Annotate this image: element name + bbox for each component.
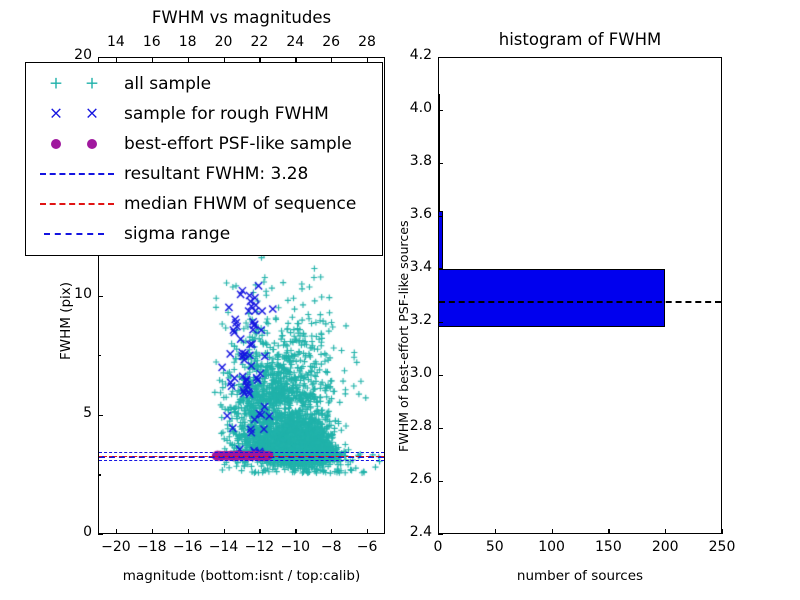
right-plot-xlabel: number of sources: [438, 568, 722, 584]
legend-item: median FHWM of sequence: [34, 189, 374, 219]
line-style-swatch-icon: [44, 233, 104, 235]
legend: ++all sample××sample for rough FWHMbest-…: [25, 62, 383, 256]
circle-marker-icon: [51, 139, 61, 149]
hist-x-tick-mark: [552, 529, 553, 534]
hist-x-tick-label: 0: [412, 539, 464, 555]
legend-cross-swatch: ××: [34, 101, 120, 127]
cross-marker-icon: ×: [85, 106, 99, 123]
hist-y-tick-label: 4.2: [388, 47, 432, 63]
hist-x-tick-label: 250: [696, 539, 748, 555]
hist-x-tick-label: 200: [639, 539, 691, 555]
y-tick-label: 0: [50, 524, 92, 540]
hist-y-tick-label: 3.2: [388, 312, 432, 328]
hist-y-tick-mark: [438, 216, 443, 217]
sigma-range-lower-line: [99, 460, 384, 461]
histogram-bar: [438, 152, 440, 210]
x-tick-mark: [188, 529, 189, 534]
hist-y-tick-mark: [438, 481, 443, 482]
plus-marker-icon: +: [85, 76, 99, 93]
y-tick-mark: [98, 57, 103, 58]
histogram-bar: [438, 211, 443, 269]
histogram-bar: [438, 269, 665, 327]
legend-item: ××sample for rough FWHM: [34, 99, 374, 129]
legend-plus-swatch: ++: [34, 71, 120, 97]
hist-y-tick-mark: [438, 110, 443, 111]
y-tick-mark: [98, 415, 103, 416]
sigma-range-upper-line: [99, 452, 384, 453]
x-tick-label-top: 28: [341, 34, 393, 50]
resultant-fwhm-line: [439, 301, 721, 303]
x-tick-mark: [224, 529, 225, 534]
hist-y-tick-mark: [438, 534, 443, 535]
legend-item-label: best-effort PSF-like sample: [120, 134, 352, 154]
x-tick-mark: [116, 529, 117, 534]
figure-canvas: FWHM vs magnitudes magnitude (bottom:isn…: [0, 0, 800, 600]
hist-y-tick-label: 3.4: [388, 259, 432, 275]
left-plot-title: FWHM vs magnitudes: [98, 8, 385, 27]
hist-x-tick-mark: [665, 529, 666, 534]
y-tick-label: 5: [50, 405, 92, 421]
x-tick-mark: [331, 529, 332, 534]
hist-y-tick-label: 4.0: [388, 100, 432, 116]
hist-y-tick-mark: [438, 428, 443, 429]
hist-y-tick-label: 2.8: [388, 418, 432, 434]
hist-x-tick-label: 150: [582, 539, 634, 555]
hist-y-tick-label: 2.4: [388, 524, 432, 540]
hist-y-tick-mark: [438, 57, 443, 58]
hist-y-tick-mark: [438, 322, 443, 323]
y-tick-mark: [98, 296, 103, 297]
cross-marker-icon: ×: [49, 106, 63, 123]
x-tick-mark: [259, 529, 260, 534]
hist-x-tick-mark: [608, 529, 609, 534]
hist-y-tick-label: 3.8: [388, 153, 432, 169]
left-plot-xlabel: magnitude (bottom:isnt / top:calib): [98, 568, 385, 584]
legend-item-label: resultant FWHM: 3.28: [120, 164, 308, 184]
legend-item: ++all sample: [34, 69, 374, 99]
legend-line-swatch: [34, 221, 120, 247]
hist-y-tick-mark: [438, 375, 443, 376]
legend-item-label: sample for rough FWHM: [120, 104, 329, 124]
hist-y-tick-mark: [438, 269, 443, 270]
legend-item: best-effort PSF-like sample: [34, 129, 374, 159]
legend-line-swatch: [34, 161, 120, 187]
y-tick-mark: [98, 534, 103, 535]
x-tick-mark: [152, 529, 153, 534]
circle-marker-icon: [87, 139, 97, 149]
median-fhwm-of-sequence-line: [99, 456, 384, 457]
legend-dot-swatch: [34, 131, 120, 157]
hist-y-tick-mark: [438, 163, 443, 164]
y-tick-label: 20: [50, 47, 92, 63]
y-minor-tick: [98, 355, 101, 356]
hist-y-tick-label: 3.6: [388, 206, 432, 222]
y-tick-label: 10: [50, 286, 92, 302]
histogram-bar: [438, 94, 440, 152]
legend-item-label: all sample: [120, 74, 211, 94]
y-minor-tick: [98, 474, 101, 475]
x-tick-mark: [367, 529, 368, 534]
legend-line-swatch: [34, 191, 120, 217]
legend-item: resultant FWHM: 3.28: [34, 159, 374, 189]
line-style-swatch-icon: [40, 203, 114, 205]
hist-x-tick-mark: [722, 529, 723, 534]
hist-x-tick-label: 100: [526, 539, 578, 555]
legend-item-label: median FHWM of sequence: [120, 194, 356, 214]
x-tick-label: −6: [341, 539, 393, 555]
plus-marker-icon: +: [49, 76, 63, 93]
legend-item: sigma range: [34, 219, 374, 249]
hist-y-tick-label: 2.6: [388, 471, 432, 487]
x-tick-mark: [295, 529, 296, 534]
hist-y-tick-label: 3.0: [388, 365, 432, 381]
right-plot-title: histogram of FWHM: [438, 30, 722, 49]
hist-x-tick-mark: [495, 529, 496, 534]
hist-x-tick-label: 50: [469, 539, 521, 555]
legend-item-label: sigma range: [120, 224, 230, 244]
line-style-swatch-icon: [40, 173, 114, 175]
